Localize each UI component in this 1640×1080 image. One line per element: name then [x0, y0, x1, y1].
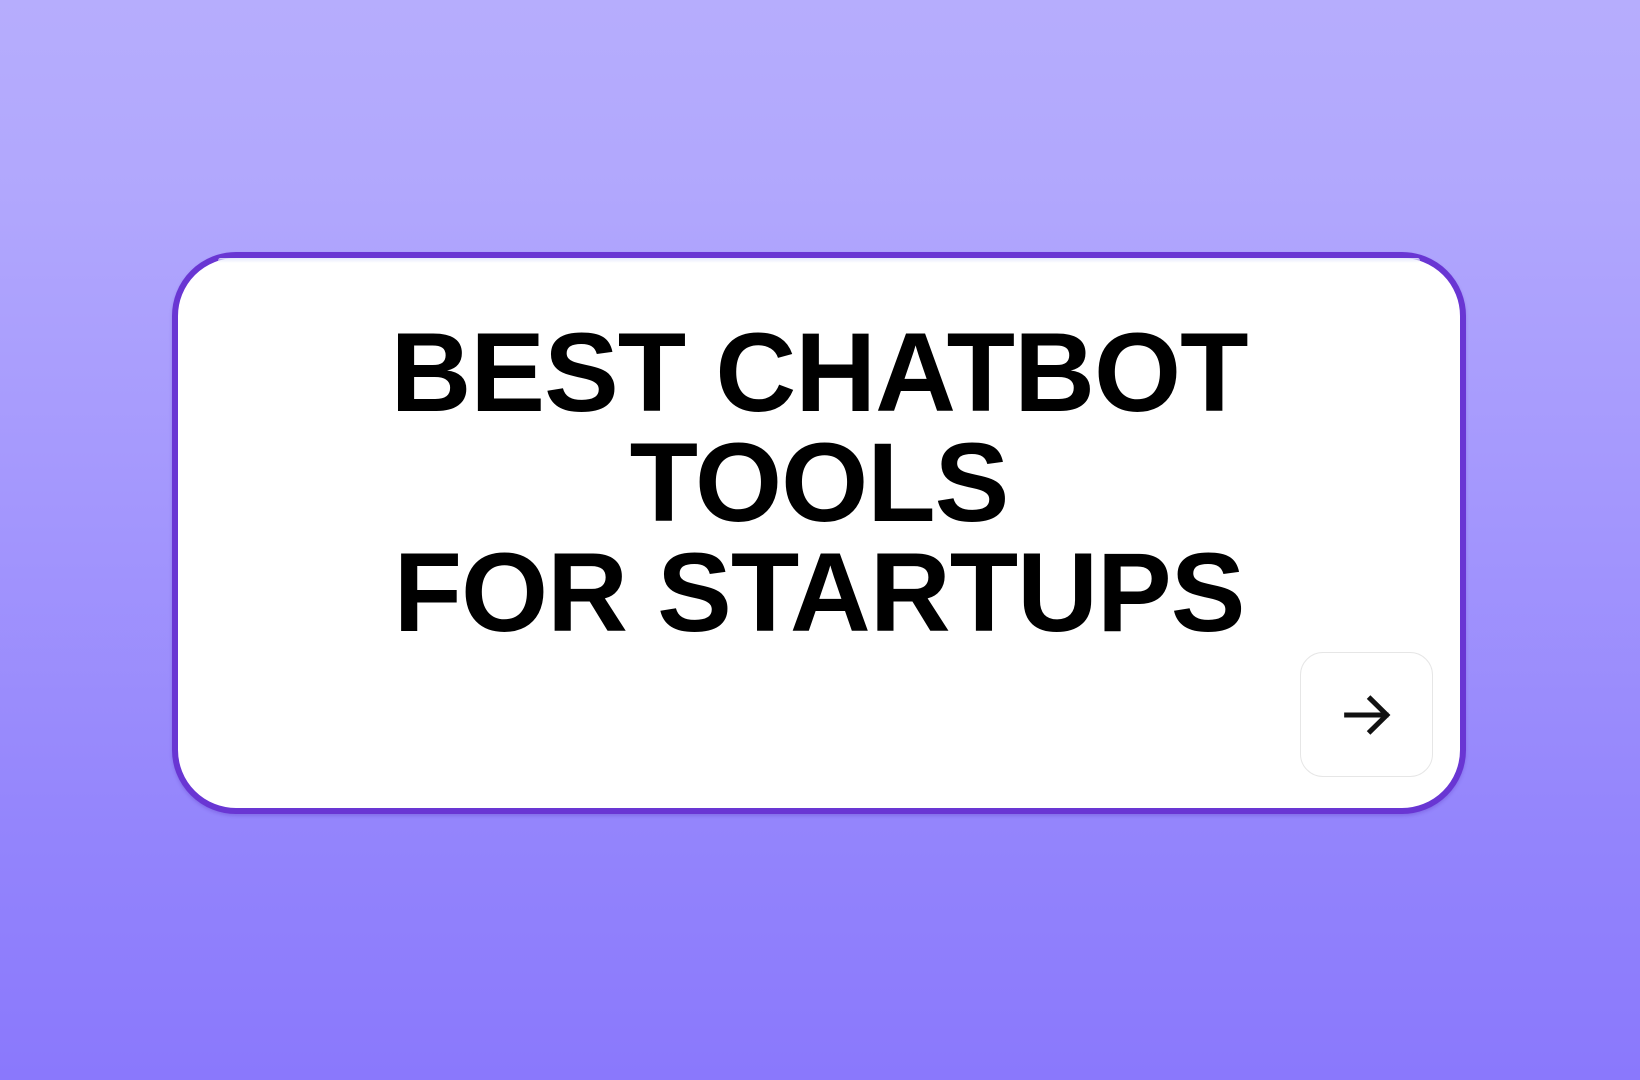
- slide-canvas: BEST CHATBOT TOOLS FOR STARTUPS: [0, 0, 1640, 1080]
- card-top-highlight: [218, 258, 1420, 263]
- headline-line-2: TOOLS: [218, 428, 1420, 538]
- next-button[interactable]: [1300, 652, 1433, 777]
- headline-line-1: BEST CHATBOT: [218, 318, 1420, 428]
- arrow-right-icon: [1338, 686, 1396, 744]
- headline-line-3: FOR STARTUPS: [218, 538, 1420, 648]
- page-title: BEST CHATBOT TOOLS FOR STARTUPS: [178, 318, 1460, 648]
- content-card: BEST CHATBOT TOOLS FOR STARTUPS: [172, 252, 1466, 814]
